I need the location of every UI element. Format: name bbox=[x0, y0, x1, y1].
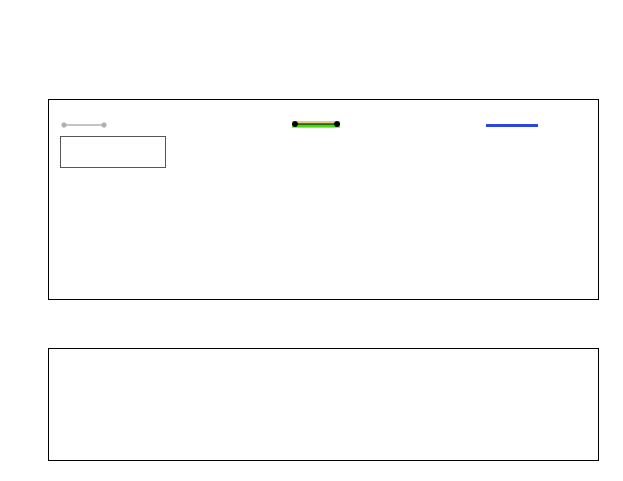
bottom-panel-plot-area bbox=[48, 348, 599, 461]
chart-page bbox=[0, 0, 623, 481]
normal-legend-swatch bbox=[486, 124, 538, 127]
percent-of-crop-box bbox=[60, 136, 166, 168]
percent-of-crop-row-header bbox=[66, 139, 160, 152]
ensemble-members-legend-swatch bbox=[60, 124, 108, 126]
bottom-panel-canvas bbox=[49, 349, 597, 459]
ensemble-average-legend-swatch bbox=[290, 124, 342, 126]
percent-of-crop-row-values bbox=[66, 152, 160, 165]
